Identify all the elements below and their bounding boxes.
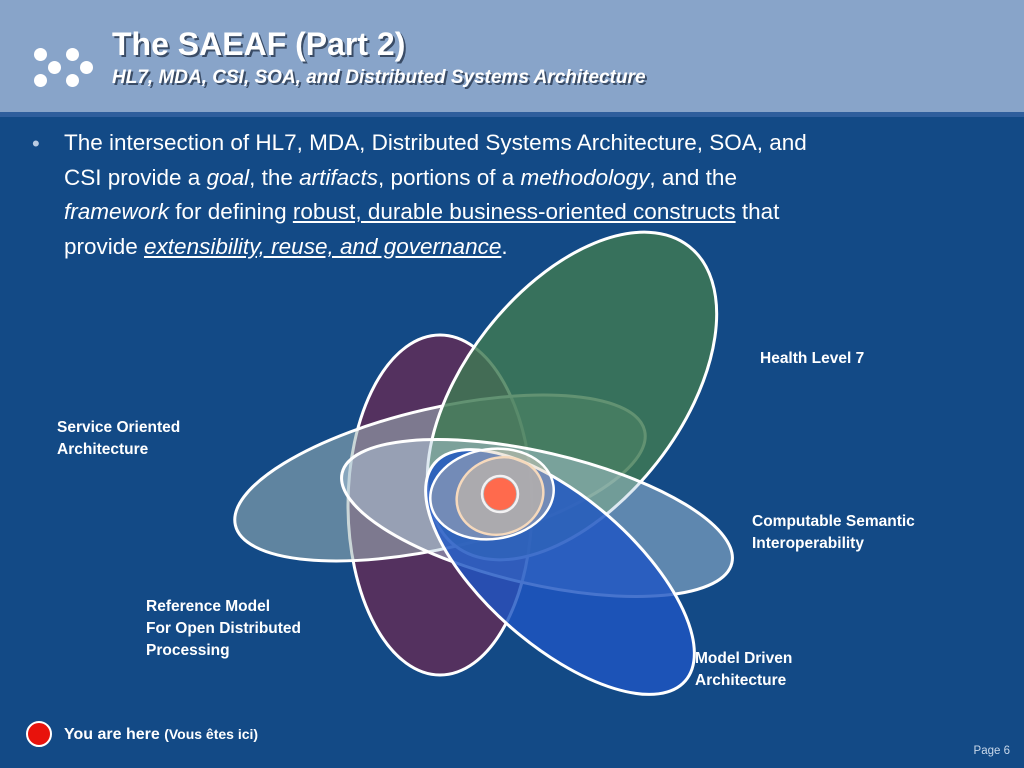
page-title: The SAEAF (Part 2) [112,25,992,63]
header-divider [0,112,1024,117]
logo-dot [48,61,61,74]
bullet-text-segment: for defining [169,199,293,224]
venn-ellipse-core-inner [446,445,555,547]
bullet-text-segment: goal [207,165,250,190]
bullet-text-segment: artifacts [299,165,378,190]
you-are-here-marker [484,478,516,510]
logo-dot [80,61,93,74]
logo-dot [66,74,79,87]
venn-label-mda: Model Driven Architecture [695,648,792,692]
bullet-text: The intersection of HL7, MDA, Distribute… [64,126,822,264]
page-subtitle: HL7, MDA, CSI, SOA, and Distributed Syst… [112,65,992,91]
bullet-text-segment: extensibility, reuse, and governance [144,234,501,259]
logo-dot [34,48,47,61]
venn-center-marker-group [482,476,518,512]
bullet-text-segment: , and the [649,165,737,190]
page-number: Page 6 [974,744,1010,758]
you-are-here-marker-ring [482,476,518,512]
venn-ellipse-soa [220,363,661,594]
venn-ellipse-core-outer [424,441,559,547]
venn-label-rmodp: Reference Model For Open Distributed Pro… [146,596,301,662]
six-dots-logo-icon [26,36,90,92]
bullet-text-segment: , portions of a [378,165,521,190]
title-block: The SAEAF (Part 2) HL7, MDA, CSI, SOA, a… [112,25,992,91]
venn-ellipse-rmodp [348,335,532,675]
you-are-here-dot-icon [26,721,52,747]
slide-canvas: The SAEAF (Part 2) HL7, MDA, CSI, SOA, a… [0,0,1024,768]
bullet-text-segment: methodology [521,165,650,190]
legend: You are here (Vous êtes ici) [26,721,258,747]
logo-dot [34,74,47,87]
bullet-text-segment: . [501,234,507,259]
venn-ellipse-mda [386,407,734,737]
body-bullet: • The intersection of HL7, MDA, Distribu… [22,126,822,264]
legend-label-fr: (Vous êtes ici) [164,726,258,742]
bullet-text-segment: robust, durable business-oriented constr… [293,199,736,224]
legend-label: You are here (Vous êtes ici) [64,724,258,745]
venn-label-hl7: Health Level 7 [760,348,864,370]
logo-dot [66,48,79,61]
bullet-text-segment: , the [249,165,299,190]
bullet-text-segment: framework [64,199,169,224]
venn-ellipse-csi [327,409,746,628]
venn-label-soa: Service Oriented Architecture [57,417,180,461]
venn-label-csi: Computable Semantic Interoperability [752,511,915,555]
legend-label-en: You are here [64,726,164,743]
bullet-marker-icon: • [22,126,64,264]
